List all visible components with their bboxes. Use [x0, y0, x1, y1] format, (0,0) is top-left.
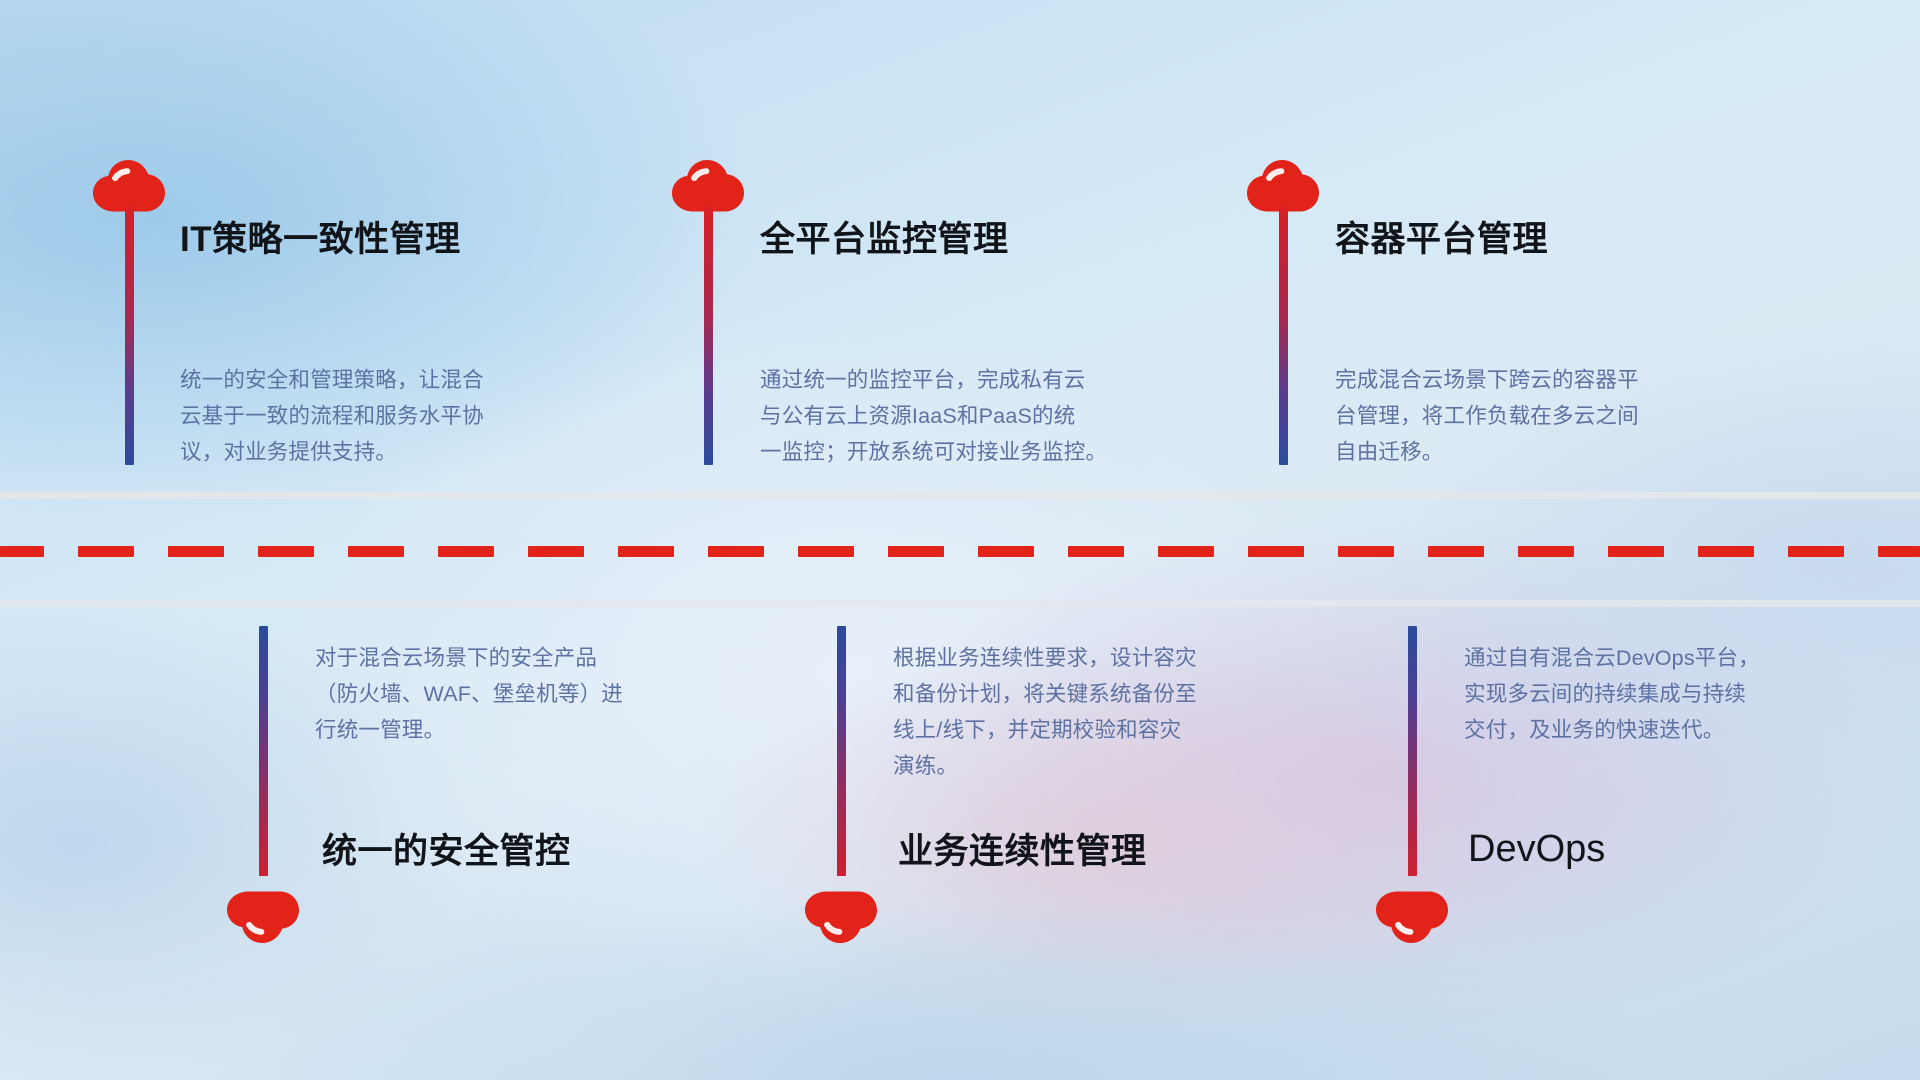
connector-stem: [704, 207, 713, 465]
divider-rule-bottom: [0, 600, 1920, 607]
divider-rule-top: [0, 492, 1920, 499]
connector-stem: [1279, 207, 1288, 465]
item-description: 对于混合云场景下的安全产品 （防火墙、WAF、堡垒机等）进 行统一管理。: [315, 640, 745, 748]
item-title: IT策略一致性管理: [180, 222, 461, 257]
item-description: 根据业务连续性要求，设计容灾 和备份计划，将关键系统备份至 线上/线下，并定期校…: [893, 640, 1323, 784]
item-title: 业务连续性管理: [898, 834, 1147, 869]
connector-stem: [1408, 626, 1417, 876]
item-title: 容器平台管理: [1335, 222, 1548, 257]
cloud-icon: [672, 160, 746, 212]
item-description: 统一的安全和管理策略，让混合 云基于一致的流程和服务水平协 议，对业务提供支持。: [180, 362, 610, 470]
infographic-canvas: IT策略一致性管理 统一的安全和管理策略，让混合 云基于一致的流程和服务水平协 …: [0, 0, 1920, 1080]
item-title: 统一的安全管控: [322, 834, 571, 869]
item-title: 全平台监控管理: [760, 222, 1009, 257]
connector-stem: [837, 626, 846, 876]
cloud-icon: [1247, 160, 1321, 212]
cloud-icon: [93, 160, 167, 212]
item-description: 完成混合云场景下跨云的容器平 台管理，将工作负载在多云之间 自由迁移。: [1335, 362, 1765, 470]
item-description: 通过自有混合云DevOps平台， 实现多云间的持续集成与持续 交付，及业务的快速…: [1464, 640, 1894, 748]
item-title: DevOps: [1468, 830, 1605, 868]
connector-stem: [125, 207, 134, 465]
divider-dashed-line: [0, 546, 1920, 557]
cloud-icon: [805, 891, 879, 943]
item-description: 通过统一的监控平台，完成私有云 与公有云上资源IaaS和PaaS的统 一监控；开…: [760, 362, 1220, 470]
cloud-icon: [227, 891, 301, 943]
cloud-icon: [1376, 891, 1450, 943]
connector-stem: [259, 626, 268, 876]
